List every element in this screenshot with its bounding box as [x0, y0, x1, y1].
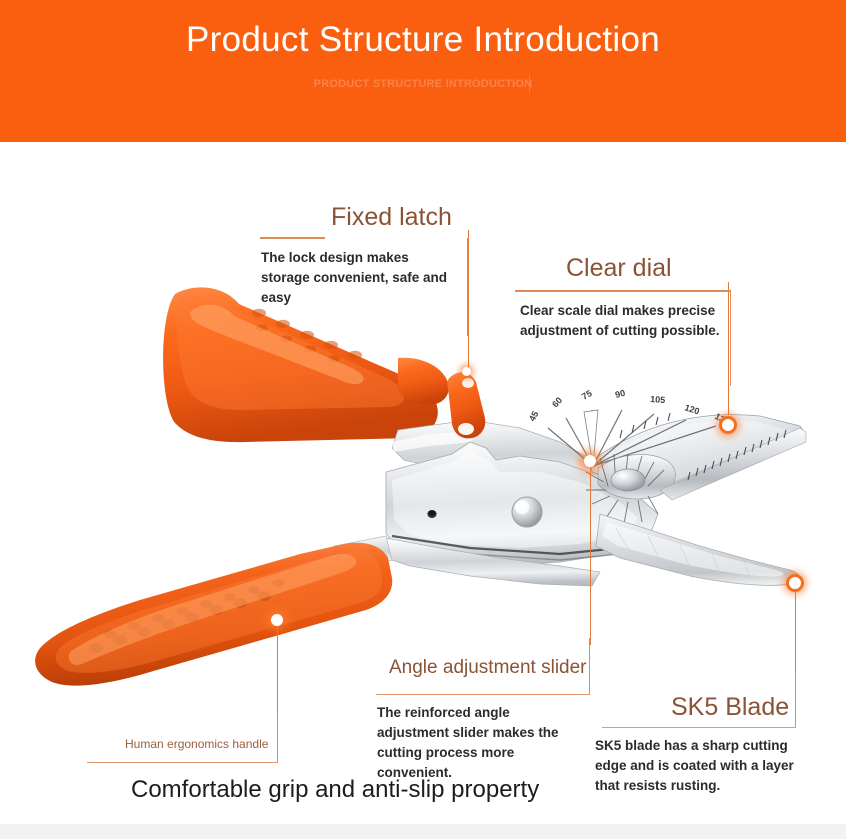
callout-sk5-blade-rule-bottom	[602, 727, 796, 728]
svg-text:45: 45	[527, 409, 541, 423]
marker-fixed-latch	[462, 367, 471, 376]
callout-fixed-latch-rule-top	[260, 237, 325, 239]
callout-sk5-blade-title: SK5 Blade	[671, 691, 789, 723]
svg-text:60: 60	[550, 395, 564, 409]
callout-clear-dial-body: Clear scale dial makes precise adjustmen…	[520, 301, 725, 341]
svg-text:75: 75	[580, 388, 594, 402]
callout-fixed-latch-body: The lock design makes storage convenient…	[261, 248, 451, 308]
callout-fixed-latch-rule-right	[467, 238, 468, 336]
svg-text:105: 105	[650, 394, 666, 405]
page-header: Product Structure Introduction PRODUCT S…	[0, 0, 846, 142]
marker-clear-dial	[719, 416, 737, 434]
page-subtitle: PRODUCT STRUCTURE INTRODUCTION	[0, 76, 846, 92]
callout-sk5-blade-rule-right	[795, 672, 796, 728]
callout-handle-rule-right	[277, 714, 278, 762]
callout-sk5-blade-body: SK5 blade has a sharp cutting edge and i…	[595, 736, 795, 796]
callout-clear-dial-rule-right	[730, 290, 731, 386]
marker-angle-slider	[584, 455, 596, 467]
svg-text:120: 120	[683, 402, 700, 416]
callout-fixed-latch-title: Fixed latch	[331, 201, 452, 233]
callout-angle-slider-body: The reinforced angle adjustment slider m…	[377, 703, 577, 783]
footer-strip	[0, 824, 846, 839]
callout-handle-body: Comfortable grip and anti-slip property	[131, 774, 539, 806]
callout-angle-slider-title: Angle adjustment slider	[389, 652, 587, 684]
marker-sk5-blade	[786, 574, 804, 592]
page-title: Product Structure Introduction	[0, 17, 846, 63]
product-structure-infographic: Product Structure Introduction PRODUCT S…	[0, 0, 846, 839]
callout-clear-dial-title: Clear dial	[566, 252, 672, 284]
callout-handle-title: Human ergonomics handle	[125, 736, 268, 753]
callout-clear-dial-rule-top	[515, 290, 731, 292]
svg-text:90: 90	[614, 388, 626, 400]
leader-fixed-latch	[468, 230, 469, 374]
leader-angle-slider	[590, 467, 591, 645]
callout-handle-rule-bottom	[87, 762, 278, 763]
callout-angle-slider-rule-right	[589, 638, 590, 695]
marker-handle	[271, 614, 283, 626]
callout-angle-slider-rule-bottom	[376, 694, 590, 695]
